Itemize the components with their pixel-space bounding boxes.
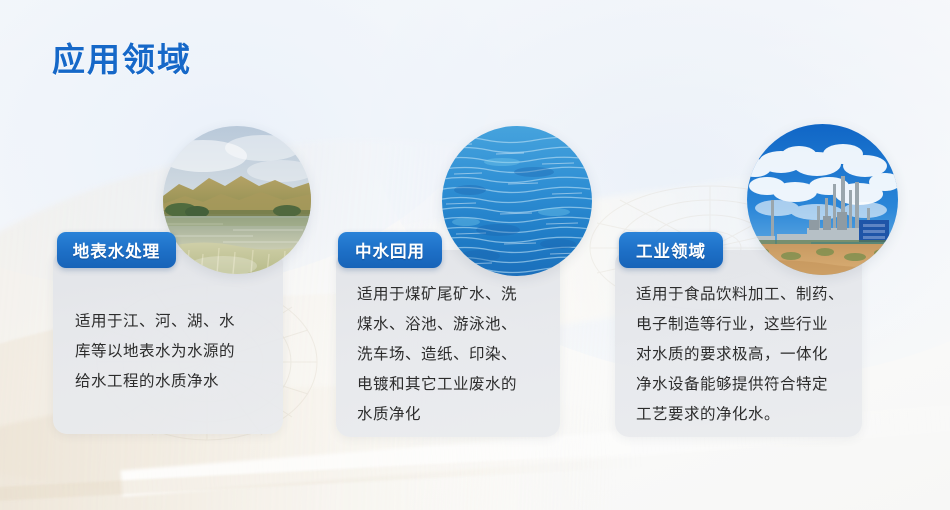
blue-water-surface-photo	[442, 126, 592, 276]
badge-industrial[interactable]: 工业领域	[619, 232, 723, 268]
lake-landscape-photo	[163, 126, 311, 274]
industrial-plant-photo	[747, 124, 898, 275]
card-body-surface-water: 适用于江、河、湖、水 库等以地表水为水源的 给水工程的水质净水	[75, 307, 265, 397]
page-title: 应用领域	[52, 33, 192, 81]
card-body-reclaimed-water: 适用于煤矿尾矿水、洗 煤水、浴池、游泳池、 洗车场、造纸、印染、 电镀和其它工业…	[357, 280, 549, 430]
slide-canvas: 应用领域	[0, 0, 950, 510]
badge-reclaimed-water[interactable]: 中水回用	[338, 232, 442, 268]
background-highlight-band-2	[0, 451, 680, 503]
badge-surface-water[interactable]: 地表水处理	[57, 232, 176, 268]
card-body-industrial: 适用于食品饮料加工、制药、 电子制造等行业，这些行业 对水质的要求极高，一体化 …	[636, 280, 850, 430]
